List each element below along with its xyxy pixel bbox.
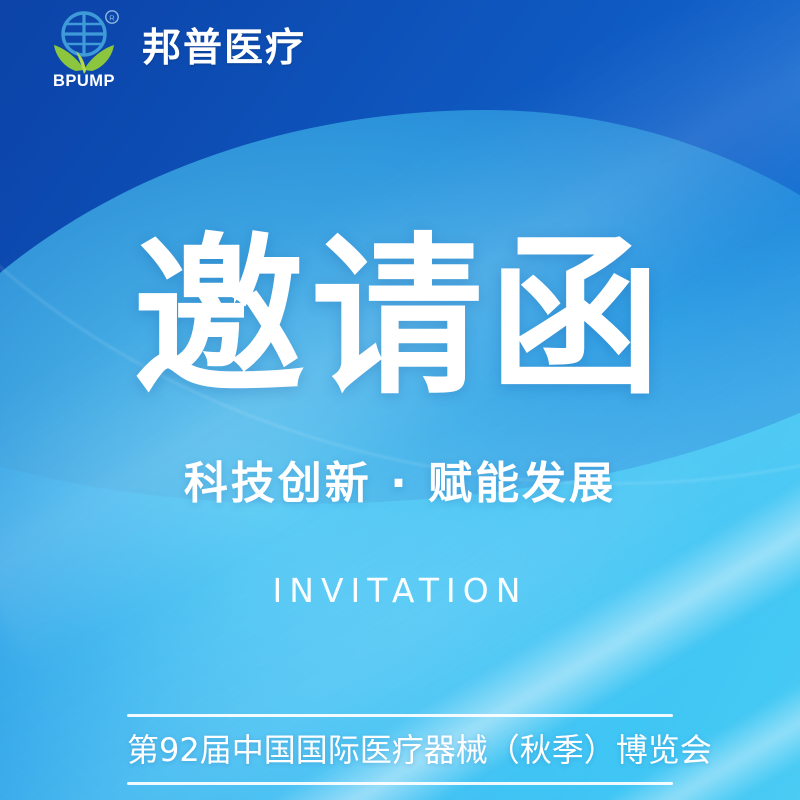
invitation-poster: BPUMP R 邦普医疗 邀请函 科技创新 · 赋能发展 INVITATION … bbox=[0, 0, 800, 800]
page-title: 邀请函 bbox=[133, 232, 667, 404]
svg-text:R: R bbox=[109, 13, 115, 22]
brand-header: BPUMP R 邦普医疗 bbox=[0, 0, 800, 96]
company-name: 邦普医疗 bbox=[142, 29, 306, 68]
event-name: 第92届中国国际医疗器械（秋季）博览会 bbox=[127, 717, 673, 782]
invitation-subtitle-en: INVITATION bbox=[273, 574, 528, 607]
divider-bottom bbox=[127, 782, 673, 785]
poster-content: 邀请函 科技创新 · 赋能发展 INVITATION bbox=[0, 0, 800, 800]
tagline: 科技创新 · 赋能发展 bbox=[184, 462, 616, 506]
svg-text:BPUMP: BPUMP bbox=[53, 72, 115, 88]
bpump-flower-logo-icon: BPUMP R bbox=[42, 8, 126, 88]
footer-event-band: 第92届中国国际医疗器械（秋季）博览会 bbox=[127, 714, 673, 785]
